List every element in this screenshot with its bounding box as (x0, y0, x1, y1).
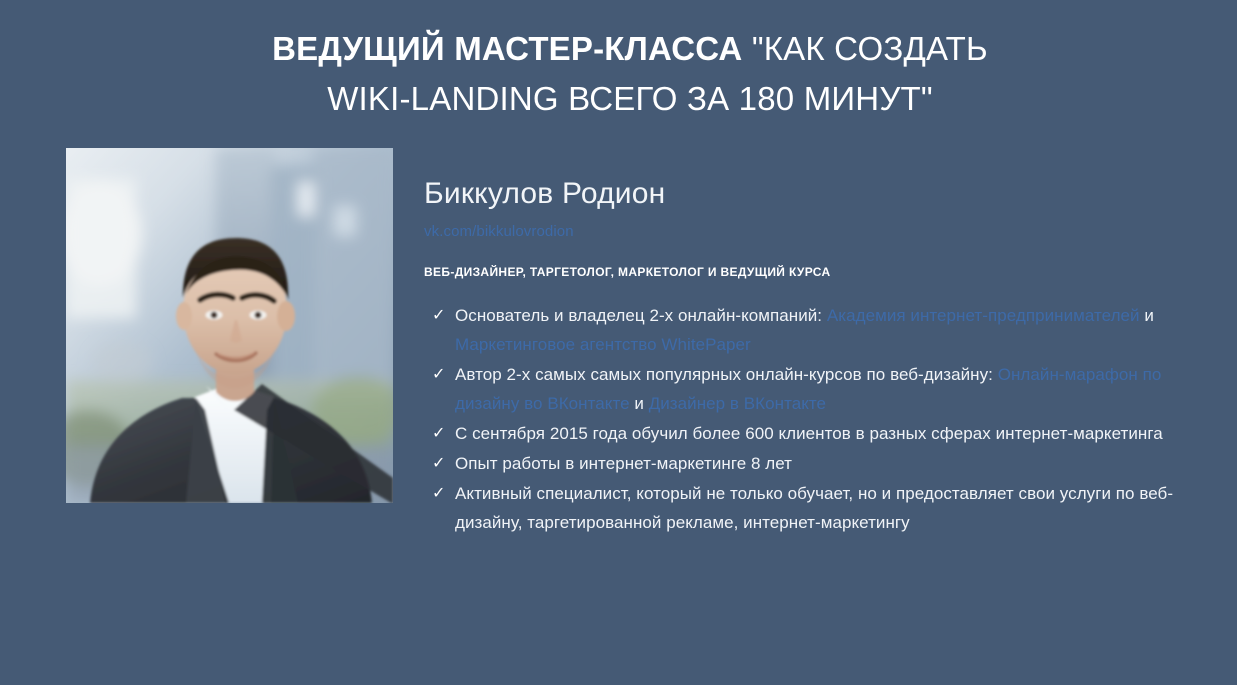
speaker-bio: Биккулов Родион vk.com/bikkulovrodion ВЕ… (424, 174, 1189, 538)
credential-item: ✓Основатель и владелец 2-х онлайн-компан… (424, 301, 1189, 359)
check-icon: ✓ (432, 479, 445, 508)
vk-profile-link[interactable]: vk.com/bikkulovrodion (424, 223, 574, 240)
page-title-line-1-rest: "КАК СОЗДАТЬ (752, 30, 988, 67)
credential-link[interactable]: Академия интернет-предпринимателей (827, 306, 1140, 325)
check-icon: ✓ (432, 449, 445, 478)
credential-text: С сентября 2015 года обучил более 600 кл… (455, 424, 1163, 443)
check-icon: ✓ (432, 419, 445, 448)
credential-text: Активный специалист, который не только о… (455, 484, 1173, 532)
check-icon: ✓ (432, 360, 445, 389)
page-title: ВЕДУЩИЙ МАСТЕР-КЛАССА "КАК СОЗДАТЬ WIKI-… (240, 24, 1020, 124)
credential-item: ✓Опыт работы в интернет-маркетинге 8 лет (424, 449, 1189, 478)
portrait-photo-icon (66, 148, 393, 503)
page-title-emphasis: ВЕДУЩИЙ МАСТЕР-КЛАССА (272, 30, 742, 67)
credential-text: Опыт работы в интернет-маркетинге 8 лет (455, 454, 792, 473)
credential-text: Автор 2-х самых самых популярных онлайн-… (455, 365, 998, 384)
speaker-name: Биккулов Родион (424, 174, 1189, 214)
speaker-role: ВЕБ-ДИЗАЙНЕР, ТАРГЕТОЛОГ, МАРКЕТОЛОГ И В… (424, 265, 1189, 279)
check-icon: ✓ (432, 301, 445, 330)
profile-link-row: vk.com/bikkulovrodion (424, 223, 1189, 243)
credential-link[interactable]: Маркетинговое агентство WhitePaper (455, 335, 751, 354)
credential-text: и (630, 394, 649, 413)
page-title-line-2: WIKI-LANDING ВСЕГО ЗА 180 МИНУТ" (240, 74, 1020, 124)
credential-link[interactable]: Дизайнер в ВКонтакте (649, 394, 826, 413)
credential-item: ✓Активный специалист, который не только … (424, 479, 1189, 537)
credential-item: ✓С сентября 2015 года обучил более 600 к… (424, 419, 1189, 448)
credentials-list: ✓Основатель и владелец 2-х онлайн-компан… (424, 301, 1189, 537)
portrait-photo (66, 148, 393, 503)
credential-text: Основатель и владелец 2-х онлайн-компани… (455, 306, 827, 325)
credential-item: ✓Автор 2-х самых самых популярных онлайн… (424, 360, 1189, 418)
credential-text: и (1140, 306, 1154, 325)
page-title-line-1: ВЕДУЩИЙ МАСТЕР-КЛАССА "КАК СОЗДАТЬ (240, 24, 1020, 74)
